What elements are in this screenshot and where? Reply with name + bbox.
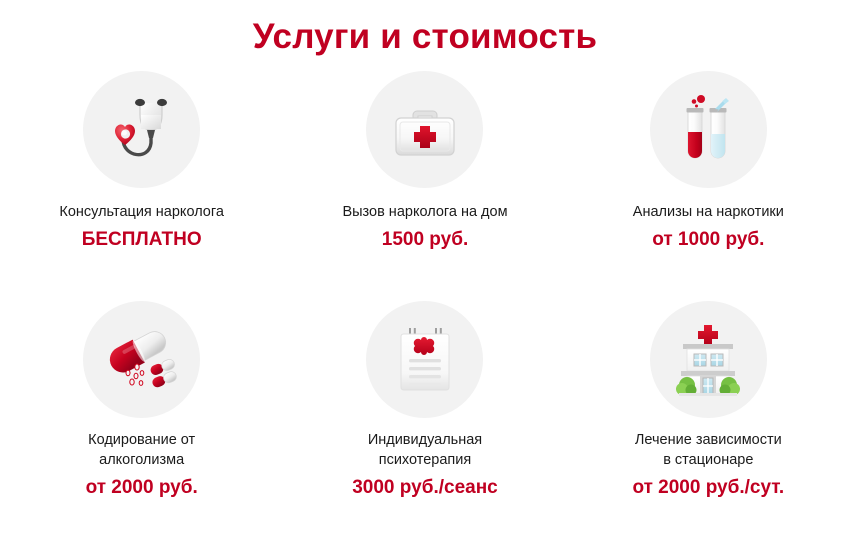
service-name: Кодирование от алкоголизма <box>88 430 195 470</box>
service-name: Вызов нарколога на дом <box>342 202 507 222</box>
service-card[interactable]: Вызов нарколога на дом 1500 руб. <box>283 71 566 301</box>
hospital-building-icon <box>650 301 767 418</box>
service-card[interactable]: Кодирование от алкоголизма от 2000 руб. <box>0 301 283 531</box>
service-name: Индивидуальная психотерапия <box>368 430 482 470</box>
service-name: Анализы на наркотики <box>633 202 784 222</box>
page-title: Услуги и стоимость <box>0 0 850 58</box>
service-card[interactable]: Анализы на наркотики от 1000 руб. <box>567 71 850 301</box>
service-price: БЕСПЛАТНО <box>82 228 202 252</box>
service-price: от 1000 руб. <box>652 228 764 252</box>
medical-chart-icon <box>366 301 483 418</box>
first-aid-kit-icon <box>366 71 483 188</box>
services-pricing-page: Услуги и стоимость <box>0 0 850 539</box>
service-name: Консультация нарколога <box>59 202 224 222</box>
service-card[interactable]: Лечение зависимости в стационаре от 2000… <box>567 301 850 531</box>
service-price: 1500 руб. <box>382 228 468 252</box>
service-price: 3000 руб./сеанс <box>352 476 498 500</box>
service-card[interactable]: Индивидуальная психотерапия 3000 руб./се… <box>283 301 566 531</box>
service-price: от 2000 руб. <box>86 476 198 500</box>
capsule-pills-icon <box>83 301 200 418</box>
stethoscope-heart-icon <box>83 71 200 188</box>
service-name: Лечение зависимости в стационаре <box>635 430 782 470</box>
services-grid: Консультация нарколога БЕСПЛАТНО <box>0 71 850 531</box>
service-price: от 2000 руб./сут. <box>632 476 784 500</box>
service-card[interactable]: Консультация нарколога БЕСПЛАТНО <box>0 71 283 301</box>
test-tubes-icon <box>650 71 767 188</box>
